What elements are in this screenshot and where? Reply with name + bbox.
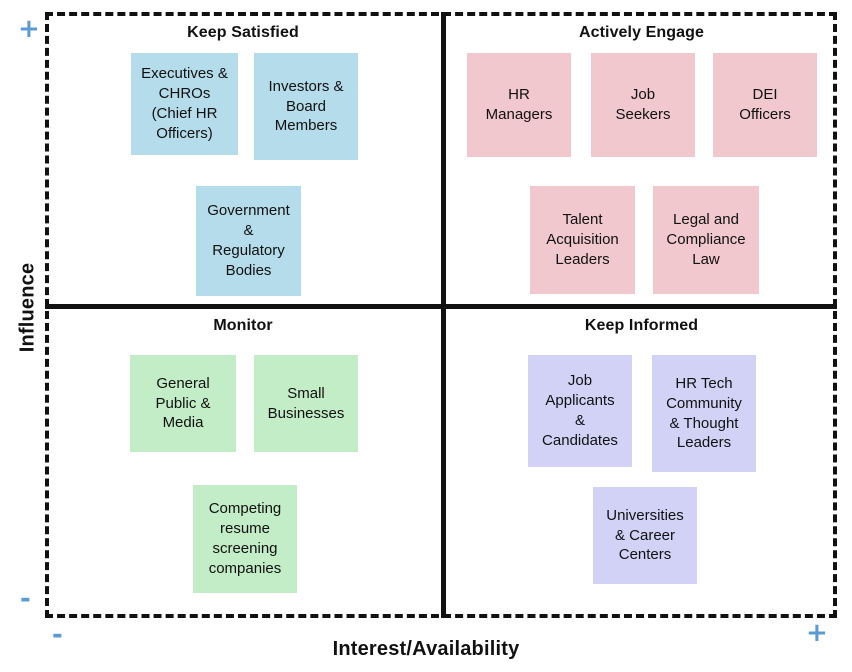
stakeholder-card-general-public-media[interactable]: GeneralPublic &Media — [130, 355, 236, 452]
stakeholder-card-universities-careers[interactable]: Universities& CareerCenters — [593, 487, 697, 584]
stakeholder-card-hr-managers[interactable]: HRManagers — [467, 53, 571, 157]
x-axis-low-marker-icon: - — [52, 622, 63, 648]
stakeholder-matrix-diagram: Influence Interest/Availability + - - + … — [0, 0, 852, 672]
quadrant-title-actively-engage: Actively Engage — [446, 24, 837, 42]
stakeholder-card-dei-officers[interactable]: DEIOfficers — [713, 53, 817, 157]
y-axis-label: Influence — [17, 238, 40, 378]
quadrant-title-keep-informed: Keep Informed — [446, 317, 837, 335]
quadrant-title-monitor: Monitor — [45, 317, 441, 335]
stakeholder-card-job-applicants[interactable]: JobApplicants&Candidates — [528, 355, 632, 467]
matrix-horizontal-divider — [45, 304, 837, 309]
stakeholder-card-hr-tech-community[interactable]: HR TechCommunity& ThoughtLeaders — [652, 355, 756, 472]
stakeholder-card-small-businesses[interactable]: SmallBusinesses — [254, 355, 358, 452]
x-axis-high-marker-icon: + — [806, 620, 828, 646]
y-axis-high-marker-icon: + — [18, 16, 40, 42]
x-axis-label: Interest/Availability — [0, 638, 852, 661]
stakeholder-card-executives-chros[interactable]: Executives &CHROs(Chief HROfficers) — [131, 53, 238, 155]
y-axis-low-marker-icon: - — [20, 586, 31, 612]
stakeholder-card-competing-companies[interactable]: Competingresumescreeningcompanies — [193, 485, 297, 593]
quadrant-title-keep-satisfied: Keep Satisfied — [45, 24, 441, 42]
stakeholder-card-legal-compliance[interactable]: Legal andComplianceLaw — [653, 186, 759, 294]
stakeholder-card-government-regulatory[interactable]: Government&RegulatoryBodies — [196, 186, 301, 296]
stakeholder-card-investors-board[interactable]: Investors &BoardMembers — [254, 53, 358, 160]
stakeholder-card-talent-acquisition[interactable]: TalentAcquisitionLeaders — [530, 186, 635, 294]
matrix-vertical-divider — [441, 12, 446, 618]
stakeholder-card-job-seekers[interactable]: JobSeekers — [591, 53, 695, 157]
